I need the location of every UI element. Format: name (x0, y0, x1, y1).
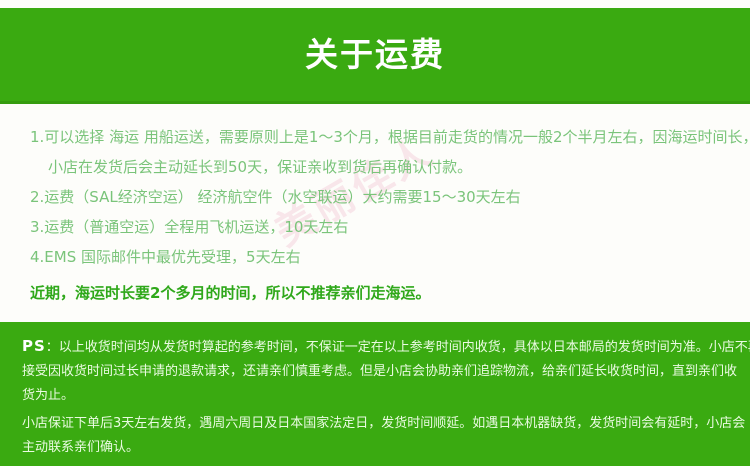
list-item: 4.EMS 国际邮件中最优先受理，5天左右 (0, 242, 750, 272)
ps-line-4: 小店保证下单后3天左右发货，遇周六周日及日本国家法定日，发货时间顺延。如遇日本机… (22, 412, 728, 436)
ps-line-5: 主动联系亲们确认。 (22, 436, 728, 460)
ps-text-1: ：以上收货时间均从发货时算起的参考时间，不保证一定在以上参考时间内收货，具体以日… (46, 340, 750, 355)
header-banner: 关于运费 (0, 8, 750, 104)
list-item: 2.运费（SAL经济空运） 经济航空件（水空联运）大约需要15～30天左右 (0, 182, 750, 212)
list-item: 小店在发货后会主动延长到50天，保证亲收到货后再确认付款。 (0, 152, 750, 182)
ps-note-section: PS：以上收货时间均从发货时算起的参考时间，不保证一定在以上参考时间内收货，具体… (0, 322, 750, 466)
ps-line-1: PS：以上收货时间均从发货时算起的参考时间，不保证一定在以上参考时间内收货，具体… (22, 334, 728, 360)
list-item: 1.可以选择 海运 用船运送，需要原则上是1～3个月，根据目前走货的情况一般2个… (0, 122, 750, 152)
notice-highlight: 近期，海运时长要2个多月的时间，所以不推荐亲们走海运。 (0, 272, 750, 308)
list-item: 3.运费（普通空运）全程用飞机运送，10天左右 (0, 212, 750, 242)
shipping-options-list: 1.可以选择 海运 用船运送，需要原则上是1～3个月，根据目前走货的情况一般2个… (0, 104, 750, 322)
page-title: 关于运费 (305, 38, 445, 71)
ps-label: PS (22, 337, 46, 355)
ps-line-2: 接受因收货时间过长申请的退款请求，还请亲们慎重考虑。但是小店会协助亲们追踪物流，… (22, 360, 728, 384)
ps-line-3: 货为止。 (22, 384, 728, 408)
shipping-info-page: 关于运费 美丽佳人 1.可以选择 海运 用船运送，需要原则上是1～3个月，根据目… (0, 0, 750, 466)
